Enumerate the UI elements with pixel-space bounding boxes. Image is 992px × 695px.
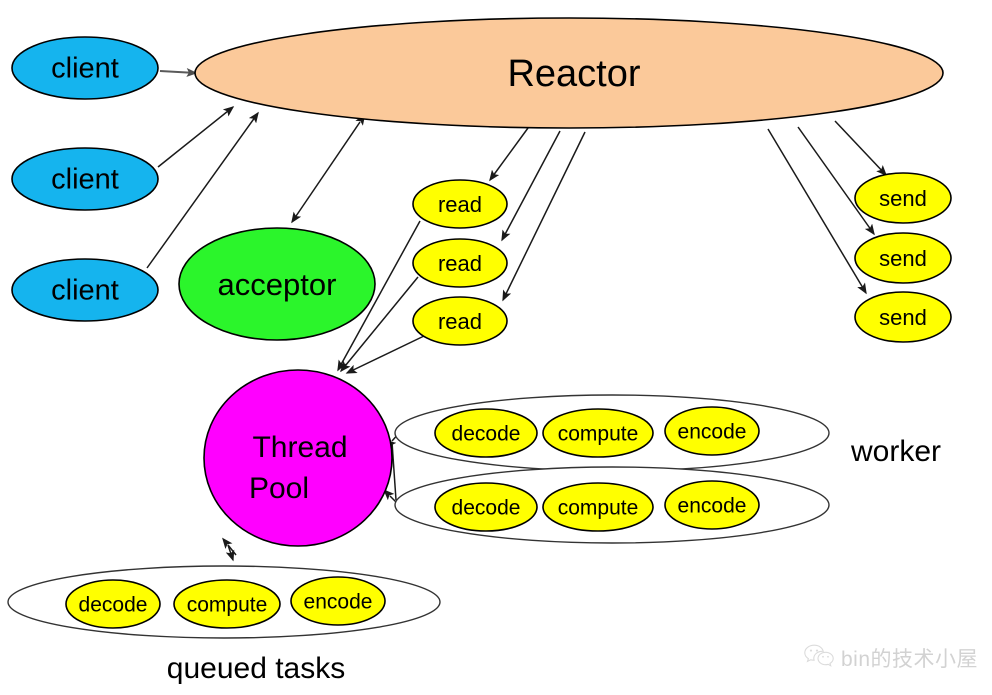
acceptor-label: acceptor: [218, 267, 337, 302]
task-node-encode[interactable]: encode: [665, 481, 759, 529]
watermark: bin的技术小屋: [804, 643, 978, 673]
read-node-3[interactable]: read: [413, 297, 507, 345]
edge-reactor-read1: [490, 128, 528, 180]
diagram-canvas: client client client Reactor acceptor re…: [0, 0, 992, 695]
reactor-node[interactable]: Reactor: [195, 18, 943, 128]
send-node-2[interactable]: send: [855, 233, 951, 283]
client-node-1[interactable]: client: [12, 37, 158, 99]
read-label: read: [438, 251, 482, 276]
encode-label: encode: [304, 591, 373, 614]
edge-pool-worker-spine: [392, 442, 396, 500]
client-node-2[interactable]: client: [12, 148, 158, 210]
queued-tasks-tasks: decode compute encode: [66, 577, 385, 628]
thread-pool-node[interactable]: Thread Pool: [204, 370, 392, 546]
encode-label: encode: [678, 421, 747, 444]
edge-client1-reactor: [160, 71, 196, 73]
task-node-encode[interactable]: encode: [665, 407, 759, 455]
decode-label: decode: [79, 594, 148, 617]
task-node-decode[interactable]: decode: [66, 580, 160, 628]
read-label: read: [438, 309, 482, 334]
thread-pool-label-line1: Thread: [252, 431, 347, 464]
task-node-decode[interactable]: decode: [435, 409, 537, 457]
queued-tasks-label: queued tasks: [167, 652, 345, 685]
client-node-3[interactable]: client: [12, 259, 158, 321]
client-label: client: [51, 53, 119, 85]
decode-label: decode: [452, 497, 521, 520]
send-node-1[interactable]: send: [855, 173, 951, 223]
task-node-encode[interactable]: encode: [291, 577, 385, 625]
edge-reactor-send2: [798, 127, 874, 234]
task-node-compute[interactable]: compute: [174, 580, 280, 628]
decode-label: decode: [452, 423, 521, 446]
edge-client2-reactor: [158, 107, 233, 167]
task-node-compute[interactable]: compute: [543, 409, 653, 457]
edge-read3-pool: [347, 336, 424, 373]
send-node-3[interactable]: send: [855, 292, 951, 342]
read-node-2[interactable]: read: [413, 239, 507, 287]
compute-label: compute: [187, 594, 268, 617]
send-label: send: [879, 246, 927, 271]
task-node-compute[interactable]: compute: [543, 483, 653, 531]
encode-label: encode: [678, 495, 747, 518]
send-label: send: [879, 305, 927, 330]
edge-reactor-acceptor: [292, 122, 360, 222]
thread-pool-label-line2: Pool: [249, 472, 309, 505]
task-node-decode[interactable]: decode: [435, 483, 537, 531]
acceptor-node[interactable]: acceptor: [179, 228, 375, 340]
read-node-1[interactable]: read: [413, 180, 507, 228]
worker-row-2-tasks: decode compute encode: [435, 481, 759, 531]
read-label: read: [438, 192, 482, 217]
edge-reactor-send1: [835, 121, 886, 175]
edge-reactor-read2: [502, 131, 560, 240]
send-label: send: [879, 186, 927, 211]
client-label: client: [51, 164, 119, 196]
client-label: client: [51, 275, 119, 307]
compute-label: compute: [558, 423, 639, 446]
reactor-label: Reactor: [507, 53, 640, 95]
worker-threads-label-line1: worker: [850, 435, 941, 468]
reactor-diagram: client client client Reactor acceptor re…: [0, 0, 992, 695]
wechat-icon: [804, 644, 834, 673]
compute-label: compute: [558, 497, 639, 520]
watermark-text: bin的技术小屋: [841, 643, 978, 673]
worker-row-1-tasks: decode compute encode: [435, 407, 759, 457]
